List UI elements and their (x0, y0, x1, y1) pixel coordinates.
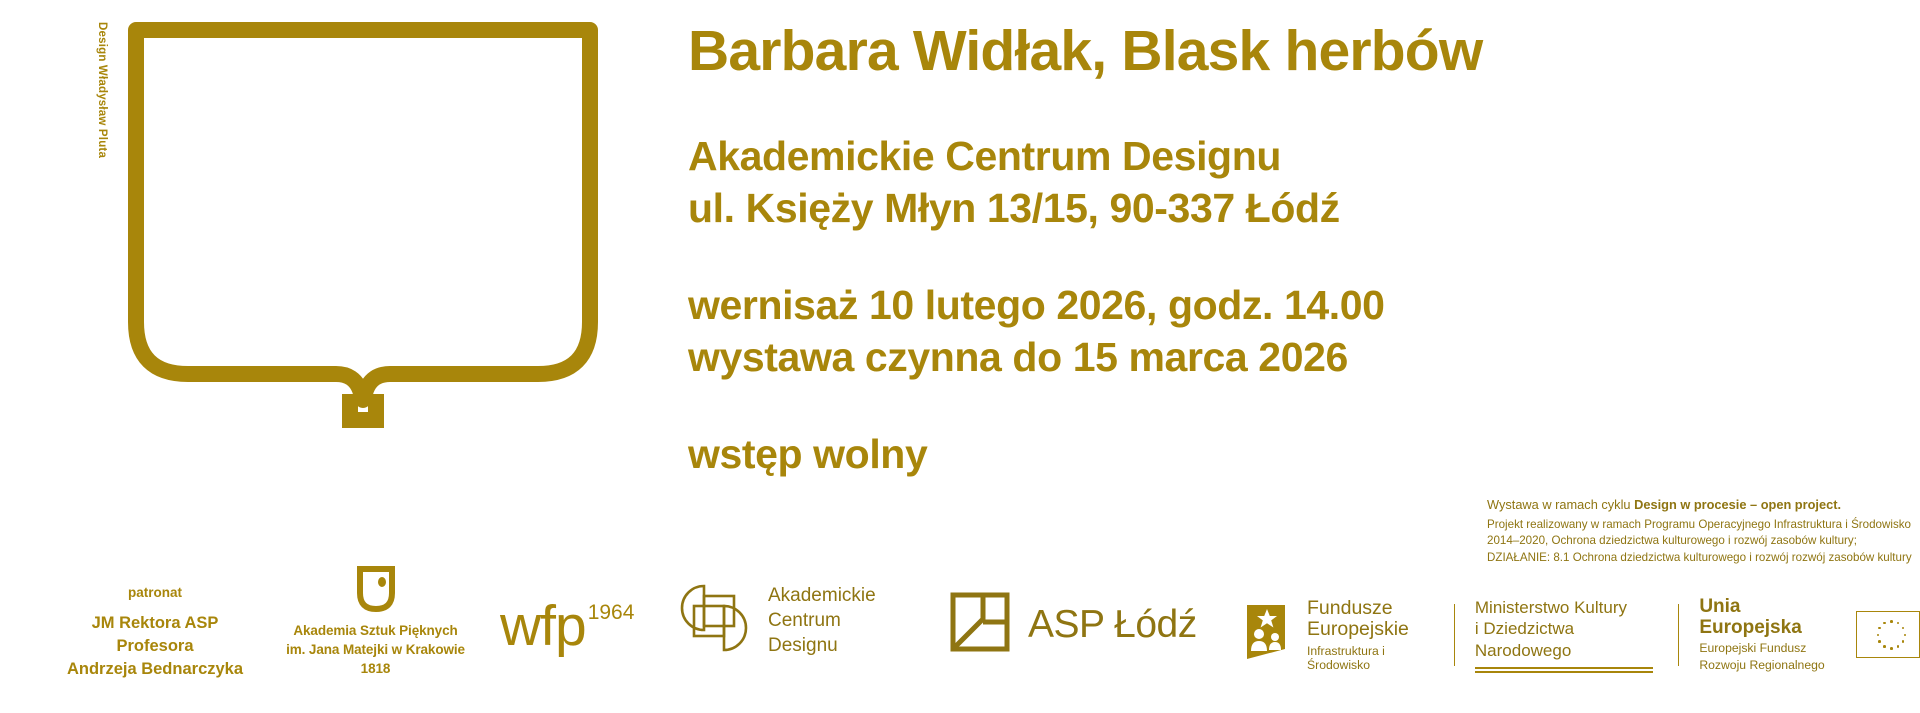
unia-line2: Europejski Fundusz (1699, 641, 1834, 657)
logo-asp-lodz: ASP Łódź (950, 592, 1197, 657)
eu-funding-strip: Fundusze Europejskie Infrastruktura i Śr… (1245, 596, 1920, 674)
patronage-name-line1: JM Rektora ASP (30, 612, 280, 635)
shield-graphic (128, 22, 598, 442)
fundusze-europejskie-icon (1245, 603, 1297, 666)
acd-line1: Akademickie (768, 583, 876, 608)
asp-krakow-shield-icon (258, 565, 493, 613)
ministerstwo-line2: i Dziedzictwa Narodowego (1475, 618, 1659, 661)
logo-asp-krakow: Akademia Sztuk Pięknych im. Jana Matejki… (258, 565, 493, 678)
logo-ministerstwo-kultury: Ministerstwo Kultury i Dziedzictwa Narod… (1475, 597, 1659, 673)
dates-block: wernisaż 10 lutego 2026, godz. 14.00 wys… (688, 279, 1588, 384)
admission-block: wstęp wolny (688, 428, 1588, 480)
ministerstwo-line1: Ministerstwo Kultury (1475, 597, 1659, 618)
patronage-name: JM Rektora ASP Profesora Andrzeja Bednar… (30, 612, 280, 680)
logo-wfp: wfp1964 (500, 598, 634, 655)
ministerstwo-name: Ministerstwo Kultury i Dziedzictwa Narod… (1475, 597, 1659, 673)
patronage-name-line3: Andrzeja Bednarczyka (30, 658, 280, 681)
logo-fundusze-europejskie: Fundusze Europejskie Infrastruktura i Śr… (1245, 598, 1434, 673)
wfp-year: 1964 (588, 601, 635, 624)
divider (1678, 604, 1679, 666)
fundusze-line2: Europejskie (1307, 619, 1434, 641)
admission-label: wstęp wolny (688, 428, 1588, 480)
legal-line-2: Projekt realizowany w ramach Programu Op… (1487, 517, 1917, 533)
ministerstwo-rule (1475, 667, 1653, 673)
legal-text-block: Wystawa w ramach cyklu Design w procesie… (1487, 497, 1917, 566)
legal-line-4: DZIAŁANIE: 8.1 Ochrona dziedzictwa kultu… (1487, 550, 1917, 566)
opening-date: wernisaż 10 lutego 2026, godz. 14.00 (688, 279, 1588, 331)
venue-name: Akademickie Centrum Designu (688, 130, 1588, 182)
page-title: Barbara Widłak, Blask herbów (688, 22, 1588, 82)
fundusze-line1: Fundusze (1307, 598, 1434, 620)
acd-line2: Centrum (768, 608, 876, 633)
patronage-block: patronat JM Rektora ASP Profesora Andrze… (30, 585, 280, 680)
venue-block: Akademickie Centrum Designu ul. Księży M… (688, 130, 1588, 235)
patronage-label: patronat (30, 585, 280, 600)
poster-canvas: Design Władysław Pluta Barbara Widłak, B… (0, 0, 1920, 713)
venue-address: ul. Księży Młyn 13/15, 90-337 Łódź (688, 182, 1588, 234)
logo-akademickie-centrum-designu: Akademickie Centrum Designu (678, 582, 876, 659)
asp-krakow-name: Akademia Sztuk Pięknych im. Jana Matejki… (258, 621, 493, 678)
legal-line-1-prefix: Wystawa w ramach cyklu (1487, 497, 1634, 512)
logo-unia-europejska: Unia Europejska Europejski Fundusz Rozwo… (1699, 596, 1920, 674)
unia-name: Unia Europejska Europejski Fundusz Rozwo… (1699, 596, 1834, 674)
legal-line-3: 2014–2020, Ochrona dziedzictwa kulturowe… (1487, 533, 1917, 549)
legal-line-1-bold: Design w procesie – open project. (1634, 497, 1841, 512)
fundusze-line3: Infrastruktura i Środowisko (1307, 644, 1434, 672)
divider (1454, 604, 1455, 666)
acd-symbol-icon (678, 582, 750, 659)
acd-name: Akademickie Centrum Designu (768, 583, 876, 659)
main-text-block: Barbara Widłak, Blask herbów Akademickie… (688, 22, 1588, 480)
design-credit-vertical: Design Władysław Pluta (96, 22, 108, 158)
wfp-wordmark: wfp (500, 594, 586, 658)
asp-krakow-line3: 1818 (258, 659, 493, 678)
unia-line3: Rozwoju Regionalnego (1699, 658, 1834, 674)
patronage-name-line2: Profesora (30, 635, 280, 658)
asp-lodz-symbol-icon (950, 592, 1010, 657)
closing-date: wystawa czynna do 15 marca 2026 (688, 331, 1588, 383)
asp-lodz-wordmark: ASP Łódź (1028, 605, 1197, 644)
acd-line3: Designu (768, 633, 876, 658)
eu-flag-icon (1856, 611, 1920, 658)
fundusze-europejskie-name: Fundusze Europejskie Infrastruktura i Śr… (1307, 598, 1434, 673)
asp-krakow-line2: im. Jana Matejki w Krakowie (258, 640, 493, 659)
unia-line1: Unia Europejska (1699, 596, 1834, 639)
asp-krakow-line1: Akademia Sztuk Pięknych (258, 621, 493, 640)
legal-line-1: Wystawa w ramach cyklu Design w procesie… (1487, 497, 1917, 512)
